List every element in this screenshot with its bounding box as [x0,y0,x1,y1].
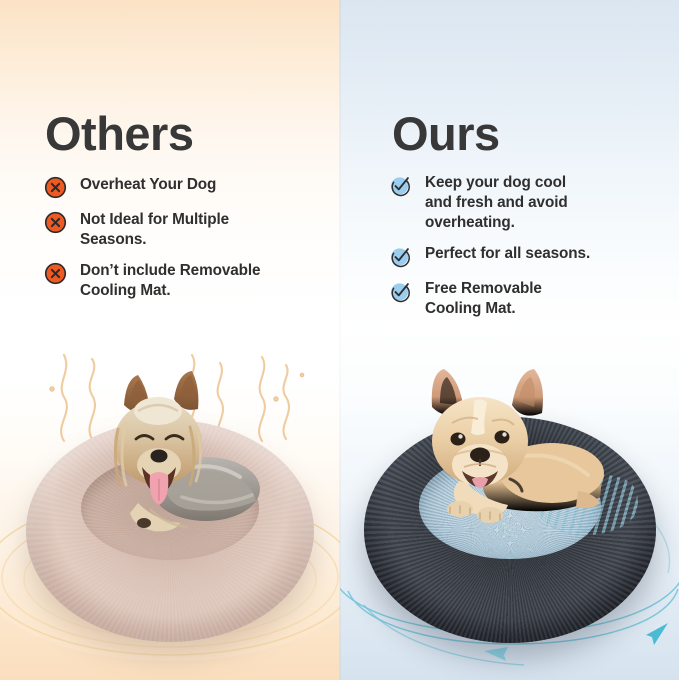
list-item-label: Perfect for all seasons. [425,244,590,264]
list-item-label: Free Removable Cooling Mat. [425,279,542,319]
check-circle-icon [389,174,412,197]
list-item: Don’t include Removable Cooling Mat. [44,261,329,301]
cross-circle-icon [44,176,67,199]
others-panel: Others Overheat Your Dog [0,0,340,680]
check-circle-icon [389,280,412,303]
list-item: Keep your dog cool and fresh and avoid o… [389,173,674,233]
list-item-label: Overheat Your Dog [80,175,216,195]
cross-circle-icon [44,211,67,234]
list-item-label: Keep your dog cool and fresh and avoid o… [425,173,568,233]
list-item: Overheat Your Dog [44,175,329,199]
others-feature-list: Overheat Your Dog Not Ideal for Multiple… [44,175,329,312]
cross-circle-icon [44,262,67,285]
list-item: Not Ideal for Multiple Seasons. [44,210,329,250]
ours-title: Ours [392,110,500,157]
list-item-label: Don’t include Removable Cooling Mat. [80,261,260,301]
comparison-infographic: Others Overheat Your Dog [0,0,679,680]
others-title: Others [45,110,194,157]
check-circle-icon [389,245,412,268]
list-item: Perfect for all seasons. [389,244,674,268]
yorkie-dog [78,371,268,561]
ours-feature-list: Keep your dog cool and fresh and avoid o… [389,173,674,329]
yorkie-in-beige-bed-illustration [0,345,340,680]
frenchie-dog [402,367,618,545]
list-item-label: Not Ideal for Multiple Seasons. [80,210,229,250]
panel-divider [339,0,341,680]
ours-panel: Ours Keep your dog cool and fresh and av… [340,0,679,680]
list-item: Free Removable Cooling Mat. [389,279,674,319]
frenchie-in-dark-bed-illustration [340,345,679,680]
